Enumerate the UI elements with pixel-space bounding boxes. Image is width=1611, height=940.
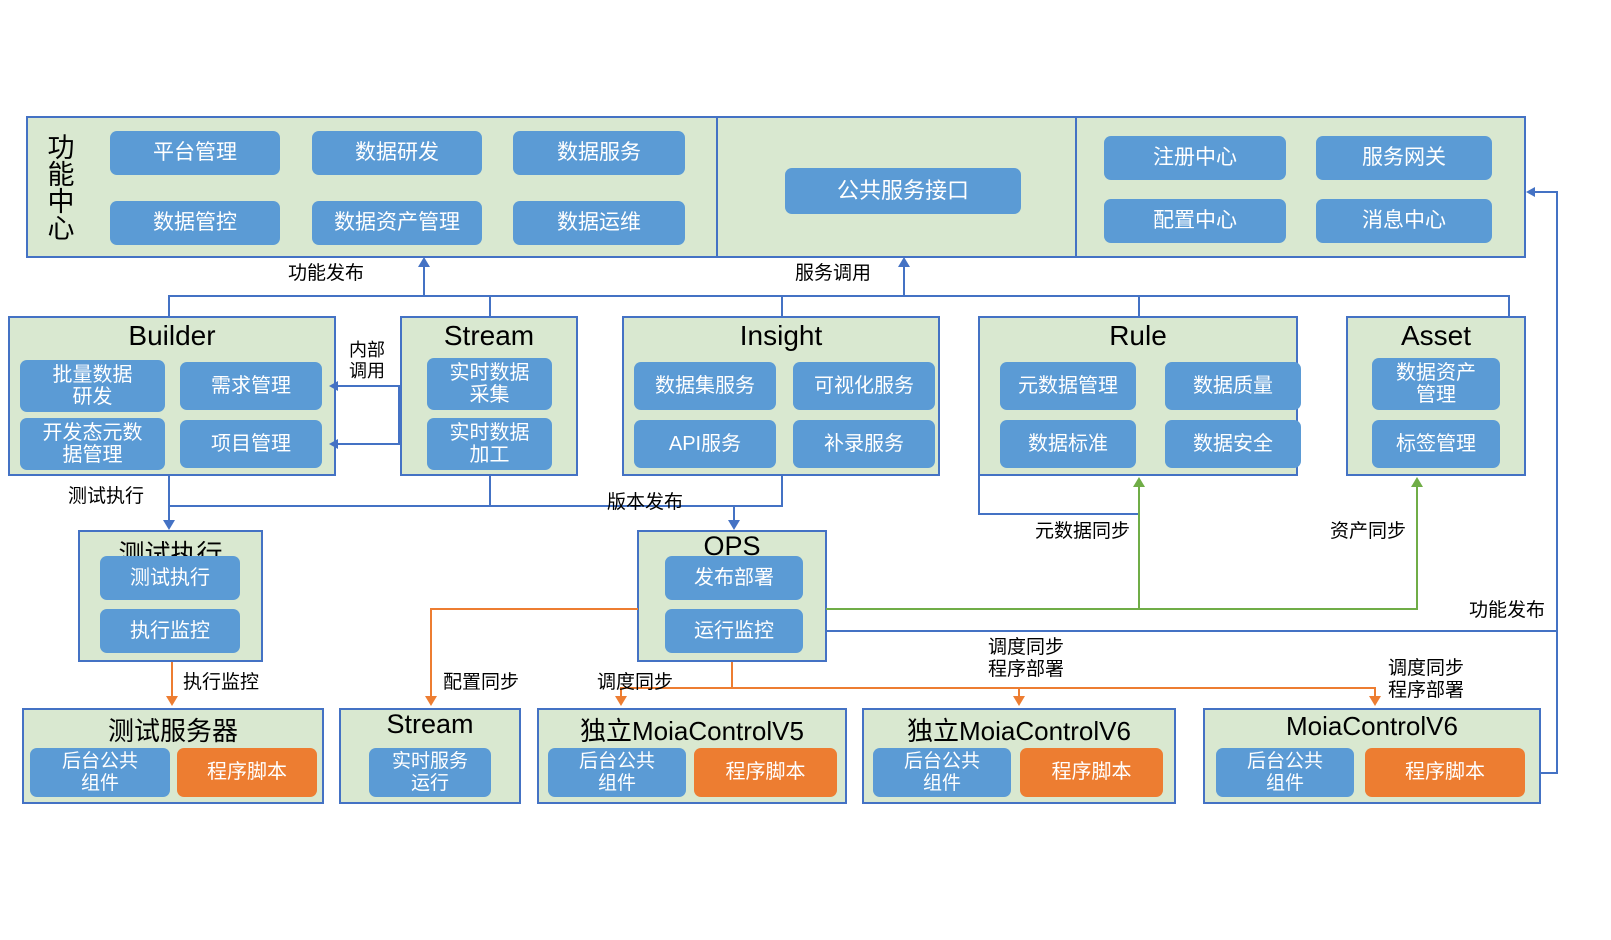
module-asset-title: Asset bbox=[1346, 320, 1526, 352]
chip-program-script-3[interactable]: 程序脚本 bbox=[1020, 748, 1163, 797]
chip-backend-common-component-1[interactable]: 后台公共 组件 bbox=[30, 748, 170, 797]
chip-registry-center[interactable]: 注册中心 bbox=[1104, 136, 1286, 180]
riser-service-call bbox=[903, 266, 905, 296]
line-right-edge-up bbox=[1556, 191, 1558, 631]
drop-insight-down bbox=[781, 476, 783, 506]
bus-ops-feed bbox=[733, 505, 783, 507]
label-function-publish-top: 功能发布 bbox=[288, 263, 364, 285]
chip-api-service[interactable]: API服务 bbox=[634, 420, 776, 468]
chip-data-standard[interactable]: 数据标准 bbox=[1000, 420, 1136, 468]
drop-bus-builder bbox=[168, 295, 170, 317]
chip-dataset-service[interactable]: 数据集服务 bbox=[634, 362, 776, 410]
riser-asset-sync bbox=[1416, 487, 1418, 610]
chip-release-deploy[interactable]: 发布部署 bbox=[665, 556, 803, 600]
drop-stream-down bbox=[489, 476, 491, 506]
label-service-call: 服务调用 bbox=[795, 263, 871, 285]
chip-backend-common-component-2[interactable]: 后台公共 组件 bbox=[548, 748, 686, 797]
function-center-label: 功能中心 bbox=[36, 124, 80, 250]
arrow-ops-down bbox=[728, 520, 740, 530]
bus-modules-bottom bbox=[168, 505, 781, 507]
chip-data-security[interactable]: 数据安全 bbox=[1165, 420, 1301, 468]
arrow-service-call-up bbox=[898, 257, 910, 267]
bus-orange-bottom bbox=[620, 687, 1374, 689]
module-stream-title: Stream bbox=[400, 320, 578, 352]
chip-data-service[interactable]: 数据服务 bbox=[513, 131, 685, 175]
line-orange-ops-drop bbox=[731, 662, 733, 688]
chip-message-center[interactable]: 消息中心 bbox=[1316, 199, 1492, 243]
server-moiacontrol-v6-title: MoiaControlV6 bbox=[1203, 711, 1541, 742]
label-config-sync: 配置同步 bbox=[443, 672, 519, 694]
chip-realtime-data-collection[interactable]: 实时数据 采集 bbox=[427, 358, 552, 410]
chip-service-gateway[interactable]: 服务网关 bbox=[1316, 136, 1492, 180]
chip-program-script-2[interactable]: 程序脚本 bbox=[694, 748, 837, 797]
arrow-internal-call-2 bbox=[329, 439, 338, 449]
server-moiacontrol-v6-standalone-title: 独立MoiaControlV6 bbox=[862, 711, 1176, 748]
server-test-title: 测试服务器 bbox=[22, 711, 324, 748]
arrow-function-publish-up bbox=[418, 257, 430, 267]
chip-tag-management[interactable]: 标签管理 bbox=[1372, 420, 1500, 468]
label-execute-monitor: 执行监控 bbox=[183, 672, 259, 694]
chip-project-management[interactable]: 项目管理 bbox=[180, 420, 322, 468]
chip-execution-monitor[interactable]: 执行监控 bbox=[100, 609, 240, 653]
label-internal-call: 内部 调用 bbox=[336, 340, 398, 381]
chip-program-script-4[interactable]: 程序脚本 bbox=[1365, 748, 1525, 797]
module-builder-title: Builder bbox=[8, 320, 336, 352]
line-internal-call-2 bbox=[336, 443, 400, 445]
chip-dev-metadata-management[interactable]: 开发态元数 据管理 bbox=[20, 418, 165, 470]
module-insight-title: Insight bbox=[622, 320, 940, 352]
drop-builder-down bbox=[168, 476, 170, 506]
riser-function-publish bbox=[423, 266, 425, 296]
drop-bus-asset bbox=[1508, 295, 1510, 317]
chip-public-service-interface[interactable]: 公共服务接口 bbox=[785, 168, 1021, 214]
chip-supplement-service[interactable]: 补录服务 bbox=[793, 420, 935, 468]
line-internal-call-riser bbox=[398, 385, 400, 443]
line-rule-stub bbox=[978, 513, 1138, 515]
arrow-internal-call-1 bbox=[329, 381, 338, 391]
arrow-v6-down bbox=[1013, 696, 1025, 706]
drop-bus-insight bbox=[781, 295, 783, 317]
line-orange-test-monitor bbox=[171, 662, 173, 698]
arrow-asset-sync bbox=[1411, 477, 1423, 487]
chip-data-development[interactable]: 数据研发 bbox=[312, 131, 482, 175]
label-version-publish: 版本发布 bbox=[607, 492, 683, 514]
arrow-function-publish-right bbox=[1526, 187, 1535, 197]
line-v6-right-riser bbox=[1556, 631, 1558, 773]
chip-config-center[interactable]: 配置中心 bbox=[1104, 199, 1286, 243]
chip-data-asset-management[interactable]: 数据资产管理 bbox=[312, 201, 482, 245]
server-moiacontrol-v5-title: 独立MoiaControlV5 bbox=[537, 711, 847, 748]
module-rule-title: Rule bbox=[978, 320, 1298, 352]
chip-program-script-1[interactable]: 程序脚本 bbox=[177, 748, 317, 797]
chip-realtime-service-running[interactable]: 实时服务 运行 bbox=[369, 748, 491, 797]
drop-bus-stream bbox=[489, 295, 491, 317]
band-divider-1 bbox=[716, 118, 718, 256]
line-green-from-ops bbox=[826, 608, 1418, 610]
band-divider-2 bbox=[1075, 118, 1077, 256]
bus-modules-top bbox=[168, 295, 1508, 297]
chip-platform-management[interactable]: 平台管理 bbox=[110, 131, 280, 175]
label-function-publish-right: 功能发布 bbox=[1420, 600, 1545, 622]
label-schedule-sync-deploy-2: 调度同步 程序部署 bbox=[1360, 658, 1492, 702]
arrow-v5-down bbox=[615, 696, 627, 706]
chip-visualization-service[interactable]: 可视化服务 bbox=[793, 362, 935, 410]
chip-requirement-management[interactable]: 需求管理 bbox=[180, 362, 322, 410]
chip-runtime-monitor[interactable]: 运行监控 bbox=[665, 609, 803, 653]
label-asset-sync: 资产同步 bbox=[1330, 521, 1406, 543]
line-orange-ops-left bbox=[430, 608, 638, 610]
arrow-test-exec-down bbox=[163, 520, 175, 530]
server-stream-title: Stream bbox=[339, 709, 521, 740]
label-test-execute: 测试执行 bbox=[68, 486, 144, 508]
arrow-metadata-sync bbox=[1133, 477, 1145, 487]
line-right-into-band bbox=[1534, 191, 1558, 193]
chip-data-governance[interactable]: 数据管控 bbox=[110, 201, 280, 245]
line-rule-stub-v bbox=[978, 476, 980, 514]
line-v6-to-right-edge bbox=[1541, 772, 1558, 774]
label-schedule-sync: 调度同步 bbox=[597, 672, 673, 694]
line-ops-right bbox=[826, 630, 1558, 632]
architecture-diagram: 功能中心 平台管理 数据研发 数据服务 数据管控 数据资产管理 数据运维 公共服… bbox=[0, 0, 1611, 940]
arrow-config-sync-down bbox=[425, 696, 437, 706]
chip-backend-common-component-3[interactable]: 后台公共 组件 bbox=[873, 748, 1011, 797]
label-schedule-sync-deploy: 调度同步 程序部署 bbox=[960, 637, 1092, 681]
line-internal-call-1 bbox=[336, 385, 400, 387]
chip-realtime-data-processing[interactable]: 实时数据 加工 bbox=[427, 418, 552, 470]
drop-bus-rule bbox=[1138, 295, 1140, 317]
chip-backend-common-component-4[interactable]: 后台公共 组件 bbox=[1216, 748, 1354, 797]
label-metadata-sync: 元数据同步 bbox=[1035, 521, 1130, 543]
chip-data-quality[interactable]: 数据质量 bbox=[1165, 362, 1301, 410]
chip-batch-data-development[interactable]: 批量数据 研发 bbox=[20, 360, 165, 412]
chip-data-operations[interactable]: 数据运维 bbox=[513, 201, 685, 245]
chip-metadata-management[interactable]: 元数据管理 bbox=[1000, 362, 1136, 410]
line-orange-config-sync bbox=[430, 608, 432, 698]
chip-data-asset-management-2[interactable]: 数据资产 管理 bbox=[1372, 358, 1500, 410]
chip-test-execution[interactable]: 测试执行 bbox=[100, 556, 240, 600]
arrow-test-monitor-down bbox=[166, 696, 178, 706]
riser-metadata-sync bbox=[1138, 487, 1140, 610]
